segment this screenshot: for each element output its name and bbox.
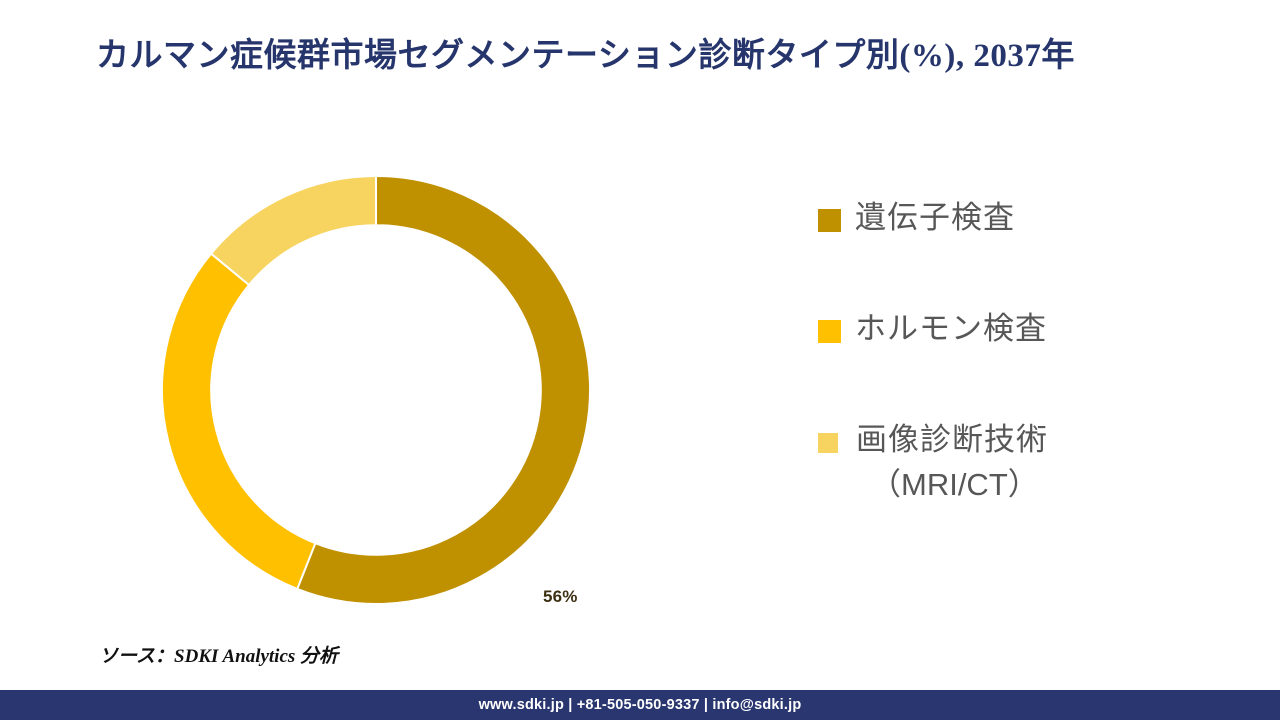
legend-swatch-imaging	[818, 433, 838, 453]
page-title: カルマン症候群市場セグメンテーション診断タイプ別(%), 2037年	[96, 28, 1196, 76]
donut-slice-0[interactable]	[297, 176, 590, 604]
legend-label-imaging-main: 画像診断技術	[856, 422, 1048, 457]
legend-item-genetic-testing[interactable]: 遺伝子検査	[818, 196, 1238, 241]
legend-swatch-hormone-testing	[818, 320, 841, 343]
legend-item-imaging[interactable]: 画像診断技術 （MRI/CT）	[818, 418, 1238, 508]
legend-label-imaging: 画像診断技術 （MRI/CT）	[856, 418, 1048, 508]
footer-contact-text: www.sdki.jp | +81-505-050-9337 | info@sd…	[479, 697, 802, 713]
footer-bar: www.sdki.jp | +81-505-050-9337 | info@sd…	[0, 690, 1280, 720]
donut-slice-group	[162, 176, 590, 604]
legend-label-imaging-sub: （MRI/CT）	[856, 463, 1048, 508]
slice-data-label-genetic-testing: 56%	[543, 587, 578, 607]
chart-legend: 遺伝子検査 ホルモン検査 画像診断技術 （MRI/CT）	[818, 196, 1238, 508]
legend-label-genetic-testing: 遺伝子検査	[855, 196, 1015, 241]
donut-chart: 56%	[162, 176, 590, 604]
donut-chart-svg	[162, 176, 590, 604]
donut-slice-1[interactable]	[162, 254, 315, 589]
legend-label-hormone-testing: ホルモン検査	[855, 307, 1047, 352]
legend-item-hormone-testing[interactable]: ホルモン検査	[818, 307, 1238, 352]
legend-swatch-genetic-testing	[818, 209, 841, 232]
source-note: ソース：SDKI Analytics 分析	[99, 641, 338, 668]
donut-slice-2[interactable]	[211, 176, 376, 285]
